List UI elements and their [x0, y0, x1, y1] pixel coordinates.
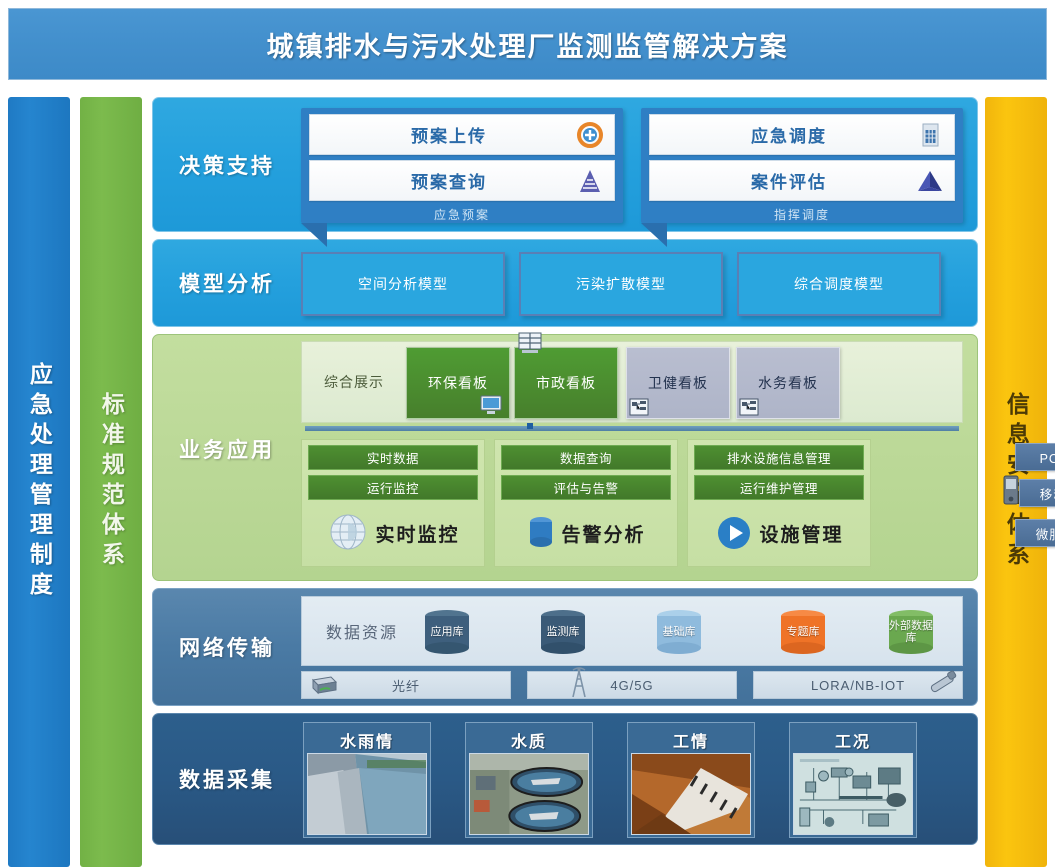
data-resource-title: 数据资源 [310, 597, 414, 665]
model-item-spatial-analysis-label: 空间分析模型 [358, 274, 448, 294]
decision-group-emergency-plan: 预案上传 预案查询 应急预案 [301, 108, 623, 223]
business-sub-operation-monitor[interactable]: 运行监控 [308, 475, 478, 500]
database-cylinder-application[interactable]: 应用库 [418, 609, 476, 655]
decision-group-command-dispatch: 应急调度 案件评估 指挥调度 [641, 108, 963, 223]
pyramid-3d-icon [916, 167, 944, 195]
business-main-alarm-analysis-label: 告警分析 [561, 520, 645, 547]
dashboard-card-water-affairs[interactable]: 水务看板 [736, 347, 840, 419]
business-sub-data-query[interactable]: 数据查询 [501, 445, 671, 470]
business-main-alarm-analysis[interactable]: 告警分析 [495, 506, 677, 560]
database-cylinder-monitoring-label: 监测库 [534, 626, 592, 638]
layer-model-analysis: 模型分析 空间分析模型 污染扩散模型 综合调度模型 [152, 239, 978, 327]
pillar-standards-system-label: 标准规范体系 [99, 392, 124, 572]
client-button-microservice[interactable]: 微服务 [1015, 519, 1055, 547]
pillar-standards-system: 标准规范体系 [80, 97, 142, 867]
database-cylinder-external[interactable]: 外部数据库 [882, 609, 940, 655]
refresh-cycle-icon [576, 121, 604, 149]
client-button-mobile[interactable]: 移动端 [1019, 479, 1055, 507]
architecture-stack: 决策支持 预案上传 预案查询 应急预案 应急调度 [152, 97, 978, 852]
business-column-facility: 排水设施信息管理 运行维护管理 设施管理 [687, 439, 871, 567]
database-cylinder-application-label: 应用库 [418, 626, 476, 638]
client-button-pc-label: PC端 [1040, 448, 1055, 467]
network-link-4g5g[interactable]: 4G/5G [527, 671, 737, 699]
comprehensive-display-strip: 综合展示 环保看板 市政看板 卫健看板 水务看板 [301, 341, 963, 423]
network-link-fiber-label: 光纤 [392, 676, 420, 695]
decision-group-arrow [301, 223, 327, 247]
layer-decision-support: 决策支持 预案上传 预案查询 应急预案 应急调度 [152, 97, 978, 232]
network-link-4g5g-label: 4G/5G [610, 678, 653, 693]
model-item-integrated-dispatch-label: 综合调度模型 [794, 274, 884, 294]
database-cylinder-external-label: 外部数据库 [882, 620, 940, 644]
globe-icon [326, 511, 370, 555]
dashboard-card-environment-label: 环保看板 [428, 373, 488, 393]
display-marker-dot [527, 423, 533, 429]
business-column-alarm: 数据查询 评估与告警 告警分析 [494, 439, 678, 567]
client-button-mobile-label: 移动端 [1040, 484, 1055, 503]
dashboard-card-water-affairs-label: 水务看板 [758, 373, 818, 393]
network-link-row: 光纤 4G/5G LORA/NB-IOT [301, 671, 963, 699]
layer-model-analysis-label: 模型分析 [153, 240, 301, 326]
dashboard-card-municipal[interactable]: 市政看板 [514, 347, 618, 419]
page-title: 城镇排水与污水处理厂监测监管解决方案 [267, 25, 789, 64]
business-sub-evaluation-alarm[interactable]: 评估与告警 [501, 475, 671, 500]
scada-diagram-photo [793, 753, 913, 835]
decision-item-plan-upload-label: 预案上传 [310, 122, 614, 147]
monitor-icon [479, 395, 503, 415]
layer-data-collection-label: 数据采集 [153, 714, 301, 844]
model-item-pollution-diffusion[interactable]: 污染扩散模型 [519, 252, 723, 316]
page-title-bar: 城镇排水与污水处理厂监测监管解决方案 [8, 8, 1047, 80]
network-link-fiber[interactable]: 光纤 [301, 671, 511, 699]
decision-item-case-evaluation-label: 案件评估 [650, 168, 954, 193]
decision-item-plan-upload[interactable]: 预案上传 [309, 114, 615, 155]
pillar-emergency-management-label: 应急处理管理制度 [27, 362, 52, 602]
data-resource-strip: 数据资源 应用库 监测库 基础库 专题库 外部数据库 [301, 596, 963, 666]
layer-business-application-label: 业务应用 [153, 423, 301, 475]
antenna-tower-icon [568, 666, 590, 700]
dashboard-card-health[interactable]: 卫健看板 [626, 347, 730, 419]
decision-item-plan-query[interactable]: 预案查询 [309, 160, 615, 201]
data-card-water-rain-label: 水雨情 [307, 726, 427, 753]
fiber-cable-icon [308, 674, 338, 696]
layer-business-application: 业务应用 综合展示 环保看板 市政看板 卫健看板 [152, 334, 978, 581]
decision-group-command-dispatch-name: 指挥调度 [649, 206, 955, 223]
data-card-working-condition[interactable]: 工况 [789, 722, 917, 838]
database-cylinder-thematic-label: 专题库 [774, 626, 832, 638]
business-main-facility-management[interactable]: 设施管理 [688, 506, 870, 560]
database-cylinder-basic[interactable]: 基础库 [650, 609, 708, 655]
network-link-lora-nbiot[interactable]: LORA/NB-IOT [753, 671, 963, 699]
database-cylinder-thematic[interactable]: 专题库 [774, 609, 832, 655]
data-card-project-status[interactable]: 工情 [627, 722, 755, 838]
database-cylinder-basic-label: 基础库 [650, 626, 708, 638]
decision-group-emergency-plan-name: 应急预案 [309, 206, 615, 223]
layer-decision-support-label: 决策支持 [153, 98, 301, 231]
network-link-lora-nbiot-label: LORA/NB-IOT [811, 678, 905, 693]
data-card-water-quality-label: 水质 [469, 726, 589, 753]
business-sub-operation-maintenance[interactable]: 运行维护管理 [694, 475, 864, 500]
data-card-working-condition-label: 工况 [793, 726, 913, 753]
flowchart-icon [629, 398, 649, 416]
layer-network-transmission: 网络传输 数据资源 应用库 监测库 基础库 专题库 外部数据库 [152, 588, 978, 706]
dashboard-card-health-label: 卫健看板 [648, 373, 708, 393]
sedimentation-tank-photo [469, 753, 589, 835]
display-underline [305, 426, 959, 431]
layer-network-transmission-label: 网络传输 [153, 589, 301, 705]
business-column-monitoring: 实时数据 运行监控 实时监控 [301, 439, 485, 567]
data-card-project-status-label: 工情 [631, 726, 751, 753]
pyramid-chart-icon [576, 167, 604, 195]
dashboard-card-environment[interactable]: 环保看板 [406, 347, 510, 419]
decision-group-arrow [641, 223, 667, 247]
database-cylinder-monitoring[interactable]: 监测库 [534, 609, 592, 655]
play-circle-icon [714, 513, 754, 553]
data-card-water-quality[interactable]: 水质 [465, 722, 593, 838]
comprehensive-display-title: 综合展示 [308, 342, 400, 422]
business-main-facility-management-label: 设施管理 [759, 520, 843, 547]
window-icon [517, 332, 543, 354]
model-item-spatial-analysis[interactable]: 空间分析模型 [301, 252, 505, 316]
decision-item-plan-query-label: 预案查询 [310, 168, 614, 193]
client-button-pc[interactable]: PC端 [1015, 443, 1055, 471]
pipeline-trench-photo [631, 753, 751, 835]
river-channel-photo [307, 753, 427, 835]
layer-data-collection: 数据采集 水雨情 水质 [152, 713, 978, 845]
model-item-integrated-dispatch[interactable]: 综合调度模型 [737, 252, 941, 316]
dashboard-card-municipal-label: 市政看板 [536, 373, 596, 393]
business-main-realtime-monitoring-label: 实时监控 [375, 520, 459, 547]
database-icon [526, 513, 556, 553]
mobile-phone-icon [1002, 475, 1020, 505]
business-main-realtime-monitoring[interactable]: 实时监控 [302, 506, 484, 560]
decision-item-emergency-dispatch-label: 应急调度 [650, 122, 954, 147]
decision-item-emergency-dispatch[interactable]: 应急调度 [649, 114, 955, 155]
calculator-icon [916, 121, 944, 149]
pillar-emergency-management: 应急处理管理制度 [8, 97, 70, 867]
decision-item-case-evaluation[interactable]: 案件评估 [649, 160, 955, 201]
data-card-water-rain[interactable]: 水雨情 [303, 722, 431, 838]
business-sub-drainage-facility-info[interactable]: 排水设施信息管理 [694, 445, 864, 470]
flowchart-icon [739, 398, 759, 416]
business-sub-realtime-data[interactable]: 实时数据 [308, 445, 478, 470]
model-item-pollution-diffusion-label: 污染扩散模型 [576, 274, 666, 294]
sensor-probe-icon [926, 668, 960, 698]
client-button-microservice-label: 微服务 [1036, 524, 1055, 543]
